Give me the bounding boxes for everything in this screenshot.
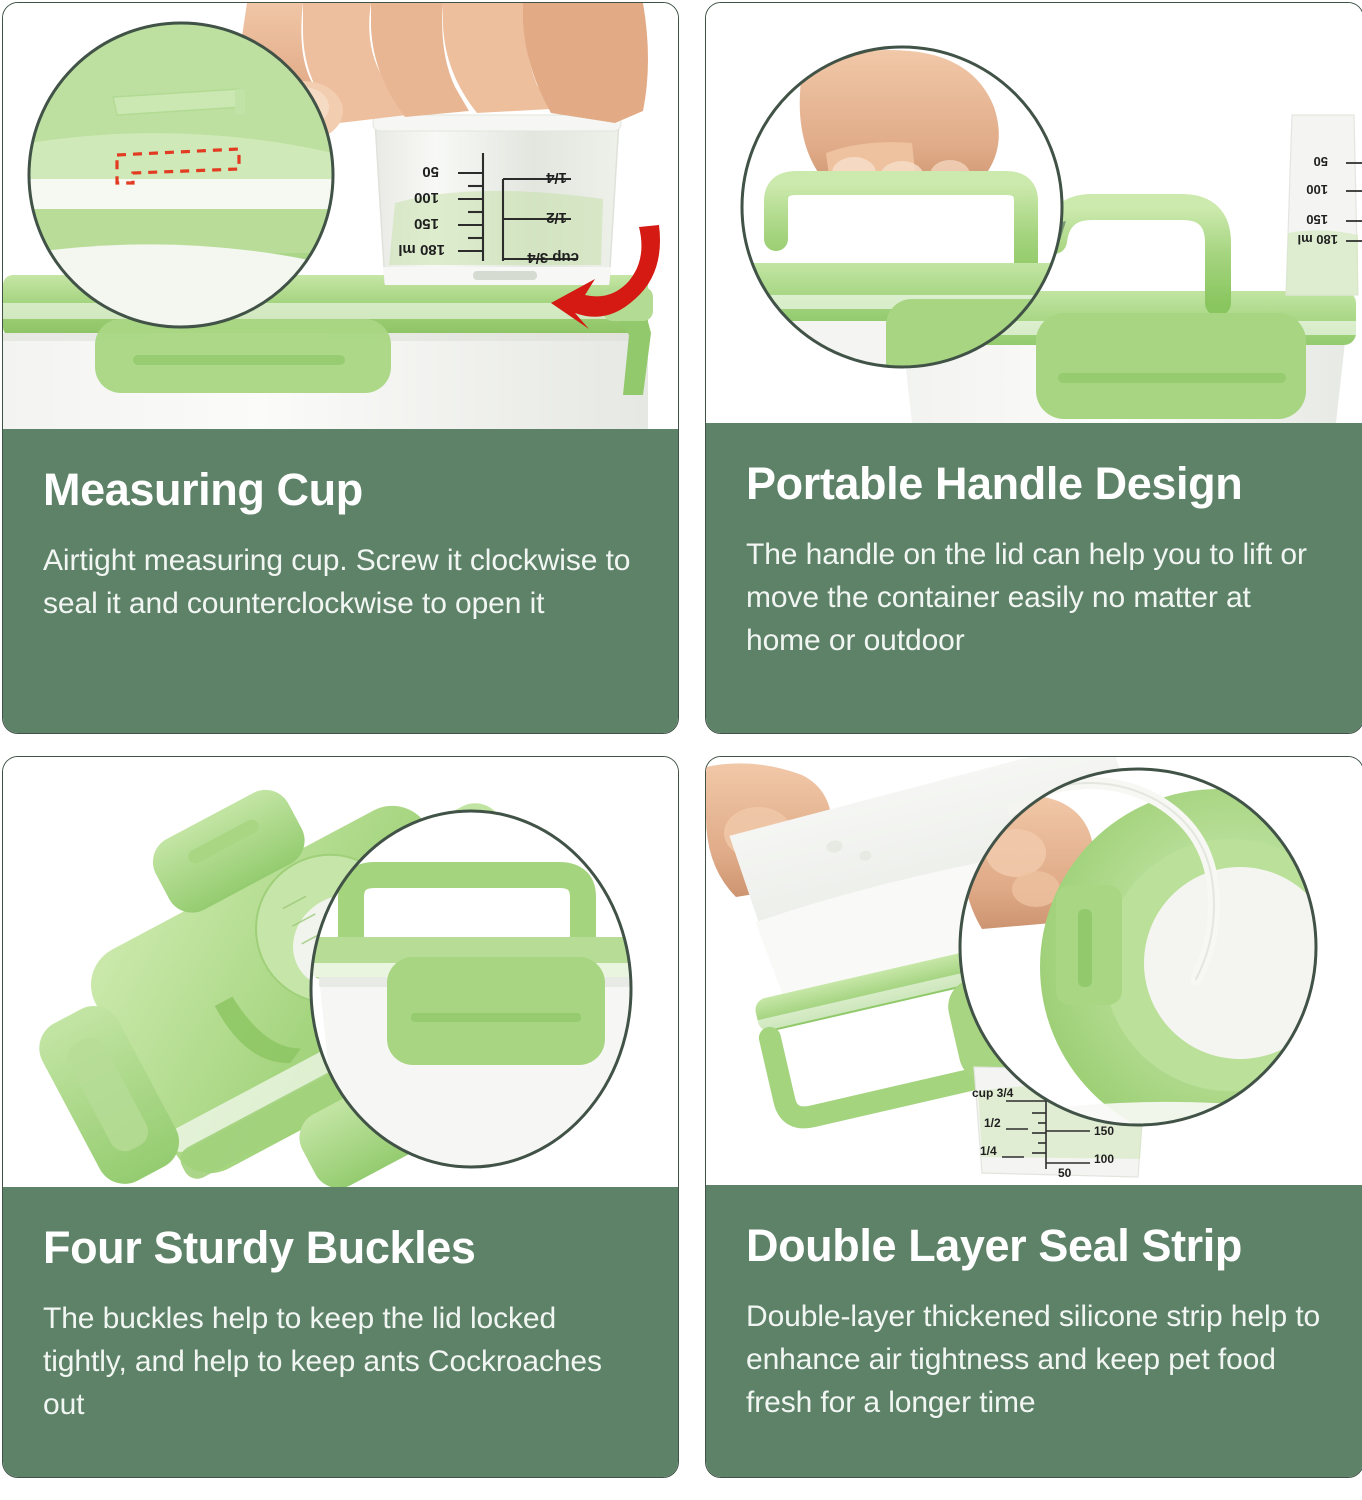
cup-mark-three-quarter: cup 3/4 <box>527 249 579 266</box>
card-body: Double-layer thickened silicone strip he… <box>746 1295 1323 1424</box>
cup-mark-three-quarter: cup 3/4 <box>972 1086 1014 1100</box>
cup-mark-150: 150 <box>414 215 439 232</box>
banner-measuring-cup: Measuring Cup Airtight measuring cup. Sc… <box>3 429 678 733</box>
card-title: Double Layer Seal Strip <box>746 1223 1323 1269</box>
cup-mark-180: 180 ml <box>398 241 445 258</box>
photo-portable-handle: 50 100 150 180 ml <box>706 3 1362 423</box>
photo-four-buckles <box>3 757 678 1187</box>
cup-mark-50: 50 <box>422 163 439 180</box>
photo-measuring-cup: 50 100 150 180 ml 1/4 1/2 cup 3/4 <box>3 3 678 429</box>
magnifier-inset-measuring-cup <box>29 23 333 327</box>
card-body: Airtight measuring cup. Screw it clockwi… <box>43 539 638 625</box>
cup-mark-100: 100 <box>1306 182 1328 197</box>
cup-mark-180: 180 ml <box>1298 232 1338 247</box>
feature-card-seal-strip: cup 3/4 1/2 1/4 180 ml 150 100 50 <box>705 756 1362 1478</box>
buckle <box>387 957 605 1065</box>
cup-mark-150: 150 <box>1094 1124 1114 1138</box>
cup-mark-50: 50 <box>1058 1166 1072 1180</box>
magnifier-inset-buckle <box>311 811 641 1169</box>
card-body: The handle on the lid can help you to li… <box>746 533 1323 662</box>
feature-grid: 50 100 150 180 ml 1/4 1/2 cup 3/4 <box>0 0 1362 1500</box>
banner-four-buckles: Four Sturdy Buckles The buckles help to … <box>3 1187 678 1477</box>
feature-card-measuring-cup: 50 100 150 180 ml 1/4 1/2 cup 3/4 <box>2 2 679 734</box>
banner-portable-handle: Portable Handle Design The handle on the… <box>706 423 1362 733</box>
cup-mark-50: 50 <box>1314 154 1328 169</box>
cup-mark-half: 1/2 <box>984 1116 1001 1130</box>
measuring-cup-illustration: 50 100 150 180 ml <box>1286 115 1362 295</box>
card-title: Four Sturdy Buckles <box>43 1225 638 1271</box>
cup-mark-100: 100 <box>1094 1152 1114 1166</box>
cup-mark-half: 1/2 <box>546 209 567 226</box>
banner-seal-strip: Double Layer Seal Strip Double-layer thi… <box>706 1185 1362 1477</box>
cup-mark-150: 150 <box>1306 212 1328 227</box>
card-body: The buckles help to keep the lid locked … <box>43 1297 638 1426</box>
feature-card-four-buckles: Four Sturdy Buckles The buckles help to … <box>2 756 679 1478</box>
photo-seal-strip: cup 3/4 1/2 1/4 180 ml 150 100 50 <box>706 757 1362 1185</box>
card-title: Measuring Cup <box>43 467 638 513</box>
cup-mark-quarter: 1/4 <box>545 169 567 186</box>
feature-card-portable-handle: 50 100 150 180 ml <box>705 2 1362 734</box>
card-title: Portable Handle Design <box>746 461 1323 507</box>
cup-mark-100: 100 <box>414 189 439 206</box>
cup-mark-quarter: 1/4 <box>980 1144 997 1158</box>
measuring-cup-illustration: 50 100 150 180 ml 1/4 1/2 cup 3/4 <box>373 115 621 285</box>
